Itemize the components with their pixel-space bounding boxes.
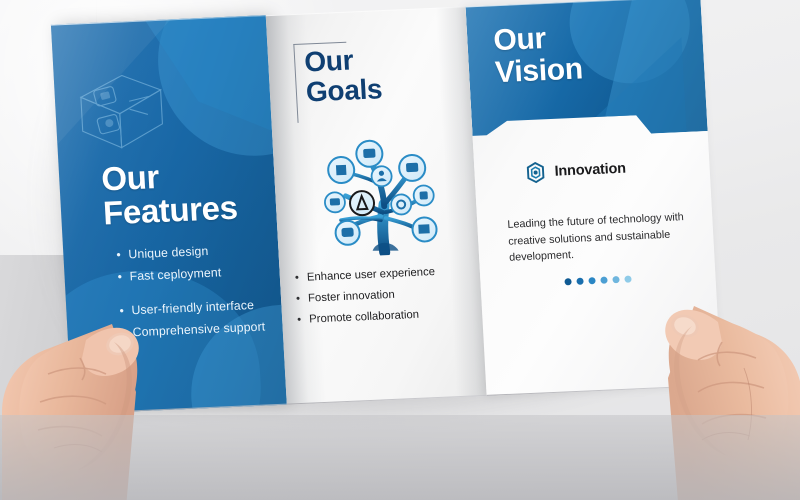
brochure-left-panel: Our Features Unique design Fast ceployme… (51, 15, 287, 414)
dot (600, 277, 607, 284)
brochure-right-panel: Our Vision Innovation Leading the future… (466, 0, 722, 396)
table-surface-shade (0, 415, 800, 500)
vision-body-text: Leading the future of technology with cr… (507, 209, 695, 267)
innovation-heading-row: Innovation (524, 158, 626, 184)
list-item: Fast ceployment (129, 261, 287, 283)
icon-tree-graphic (296, 117, 453, 258)
right-panel-title-line2: Vision (494, 53, 583, 88)
dot (576, 278, 583, 285)
dot-decoration-row (564, 275, 631, 285)
brochure-middle-panel: Our Goals (266, 6, 487, 404)
list-item: User-friendly interface (131, 295, 287, 317)
left-panel-bullet-list: Unique design Fast ceployment User-frien… (115, 239, 287, 348)
right-panel-title-line1: Our (493, 21, 582, 56)
middle-panel-title-line2: Goals (305, 71, 456, 107)
right-panel-title: Our Vision (493, 21, 584, 88)
hexagon-gear-icon (524, 161, 547, 184)
list-item: Comprehensive support (132, 317, 287, 339)
left-panel-title: Our Features (100, 153, 286, 231)
dot (624, 275, 631, 282)
brochure: Our Features Unique design Fast ceployme… (51, 0, 722, 414)
dot (588, 277, 595, 284)
dot (612, 276, 619, 283)
screenshot-canvas: Our Features Unique design Fast ceployme… (0, 0, 800, 500)
innovation-label: Innovation (554, 161, 626, 180)
middle-panel-title: Our Goals (304, 41, 457, 107)
dot (564, 278, 571, 285)
